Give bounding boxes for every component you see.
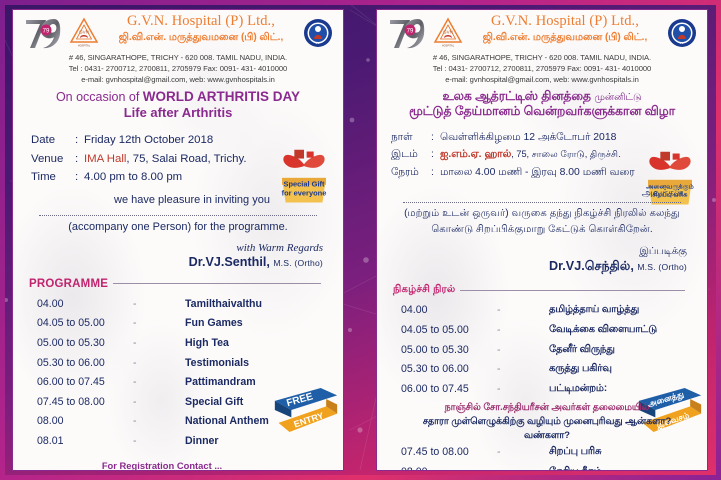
headline-block-ta: உலக ஆத்ரட்டிஸ் தினத்தை முன்னிட்டு மூட்டு…	[387, 89, 697, 119]
programme-list-ta: 04.00-தமிழ்த்தாய் வாழ்த்து04.05 to 05.00…	[387, 301, 697, 471]
headline-line2-ta: மூட்டுத் தேய்மானம் வென்றவர்களுக்கான விழா	[387, 104, 697, 119]
programme-title-en: PROGRAMME	[29, 278, 108, 290]
programme-time: 05.00 to 05.30	[401, 341, 497, 361]
programme-header-ta: நிகழ்ச்சி நிரல்	[387, 284, 697, 296]
regards-degree-ta: M.S. (Ortho)	[637, 262, 687, 272]
english-invitation-card: 79 GVN HOSPITAL G.V.N. Hospital (P) Ltd.…	[12, 9, 344, 471]
detail-label-venue-ta: இடம்	[391, 146, 431, 163]
programme-row: 04.05 to 05.00-Fun Games	[37, 314, 333, 334]
hospital-name-en: G.V.N. Hospital (P) Ltd.,	[469, 14, 661, 30]
programme-time: 05.30 to 06.00	[401, 360, 497, 380]
detail-label-date: Date	[31, 131, 75, 149]
programme-row: 04.00-தமிழ்த்தாய் வாழ்த்து	[401, 301, 697, 321]
regards-label-ta: இப்படிக்கு	[387, 246, 687, 258]
programme-item: Testimonials	[185, 354, 249, 374]
detail-row-time: Time : 4.00 pm to 8.00 pm	[31, 168, 333, 186]
address-line-2: Tel : 0431- 2700712, 2700811, 2705979 Fa…	[387, 64, 697, 75]
hospital-name-ta: ஜி.வி.என். மருத்துவமனை (பி) லிட்.,	[105, 31, 297, 44]
programme-item: தேசிய கீதம்	[549, 463, 602, 471]
detail-row-date: Date : Friday 12th October 2018	[31, 131, 333, 149]
pleasure-line-en: we have pleasure in inviting you	[23, 194, 333, 206]
address-line-2: Tel : 0431- 2700712, 2700811, 2705979 Fa…	[23, 64, 333, 75]
detail-colon-venue-ta: :	[431, 146, 440, 163]
signature-dotted-rule	[39, 215, 317, 216]
programme-time: 07.45 to 08.00	[401, 443, 497, 463]
detail-row-time-ta: நேரம் : மாலை 4.00 மணி - இரவு 8.00 மணி வர…	[391, 164, 697, 181]
logo-79-icon: 79	[23, 15, 65, 51]
programme-dash: -	[497, 360, 549, 380]
accompany-line-en: (accompany one Person) for the programme…	[23, 221, 333, 233]
letterhead: 79 GVN HOSPITAL G.V.N. Hospital (P) Ltd.…	[23, 14, 333, 80]
detail-label-venue: Venue	[31, 150, 75, 168]
registration-block-en: For Registration Contact ... 99435 51809	[23, 460, 333, 471]
programme-row: 05.00 to 05.30-தேனீர் விருந்து	[401, 341, 697, 361]
logo-79-icon: 79	[387, 15, 429, 51]
headline-prefix-en: On occasion of	[56, 90, 143, 104]
programme-time: 06.00 to 07.45	[37, 373, 133, 393]
programme-dash: -	[497, 463, 549, 471]
accompany-line-2-ta: கொண்டு சிறப்பிக்குமாறு கேட்டுக் கொள்கிறே…	[387, 222, 697, 238]
detail-value-date: Friday 12th October 2018	[84, 131, 213, 149]
programme-time: 05.00 to 05.30	[37, 334, 133, 354]
programme-dash: -	[133, 314, 185, 334]
detail-value-venue-rest-ta: , 75, சாலை ரோடு, திருச்சி.	[511, 149, 620, 159]
address-line-1: # 46, SINGARATHOPE, TRICHY - 620 008. TA…	[387, 53, 697, 64]
programme-time: 08.01	[37, 432, 133, 452]
detail-colon-date-ta: :	[431, 129, 440, 146]
detail-value-date-ta: வெள்ளிக்கிழமை 12 அக்டோபர் 2018	[440, 129, 616, 146]
programme-list-en: 04.00-Tamilthaivalthu04.05 to 05.00-Fun …	[23, 295, 333, 452]
programme-item: பட்டிமன்றம்:	[549, 380, 607, 400]
programme-row: 04.00-Tamilthaivalthu	[37, 295, 333, 315]
programme-dash: -	[497, 321, 549, 341]
logo-gvn-icon: GVN HOSPITAL	[69, 17, 99, 49]
programme-dash: -	[133, 373, 185, 393]
detail-colon-date: :	[75, 131, 84, 149]
programme-dash: -	[133, 393, 185, 413]
detail-row-venue: Venue : IMA Hall, 75, Salai Road, Trichy…	[31, 150, 333, 168]
letterhead-ta: 79 GVN HOSPITAL G.V.N. Hospital (P) Ltd.…	[387, 14, 697, 80]
programme-row: 05.30 to 06.00-Testimonials	[37, 354, 333, 374]
programme-dash: -	[497, 380, 549, 400]
detail-row-date-ta: நாள் : வெள்ளிக்கிழமை 12 அக்டோபர் 2018	[391, 129, 697, 146]
address-line-1: # 46, SINGARATHOPE, TRICHY - 620 008. TA…	[23, 53, 333, 64]
programme-row: 07.45 to 08.00-சிறப்பு பரிசு	[401, 443, 697, 463]
programme-item: Dinner	[185, 432, 219, 452]
programme-dash: -	[497, 341, 549, 361]
detail-row-venue-ta: இடம் : ஐ.எம்.ஏ. ஹால், 75, சாலை ரோடு, திர…	[391, 146, 697, 163]
programme-rule-ta	[460, 290, 685, 291]
svg-text:GVN: GVN	[443, 30, 453, 35]
detail-colon-time-ta: :	[431, 164, 440, 181]
programme-row: 07.45 to 08.00-Special Gift	[37, 393, 333, 413]
hospital-name-en: G.V.N. Hospital (P) Ltd.,	[105, 14, 297, 30]
svg-text:IAP: IAP	[316, 41, 321, 45]
programme-item: கருத்து பகிர்வு	[549, 360, 612, 380]
detail-label-date-ta: நாள்	[391, 129, 431, 146]
svg-text:IAP: IAP	[680, 41, 685, 45]
programme-item: வேடிக்கை விளையாட்டு	[549, 321, 657, 341]
regards-name-ta: Dr.VJ.செந்தில்,	[549, 259, 637, 273]
programme-time: 08.00	[401, 463, 497, 471]
programme-dash: -	[133, 334, 185, 354]
event-details-ta: நாள் : வெள்ளிக்கிழமை 12 அக்டோபர் 2018 இட…	[387, 129, 697, 181]
programme-item: சிறப்பு பரிசு	[549, 443, 601, 463]
detail-value-venue-accent-ta: ஐ.எம்.ஏ. ஹால்	[440, 149, 511, 160]
programme-row: 05.30 to 06.00-கருத்து பகிர்வு	[401, 360, 697, 380]
regards-name-en: Dr.VJ.Senthil,	[189, 255, 274, 269]
tamil-invitation-card: 79 GVN HOSPITAL G.V.N. Hospital (P) Ltd.…	[376, 9, 708, 471]
detail-value-time-ta: மாலை 4.00 மணி - இரவு 8.00 மணி வரை	[440, 164, 635, 181]
headline-block-en: On occasion of WORLD ARTHRITIS DAY Life …	[23, 89, 333, 121]
programme-row: 04.05 to 05.00-வேடிக்கை விளையாட்டு	[401, 321, 697, 341]
signature-dotted-rule-ta	[403, 202, 681, 203]
accompany-block-ta: (மற்றும் உடன் ஒருவர்) வருகை தந்து நிகழ்ச…	[387, 206, 697, 238]
programme-dash: -	[133, 354, 185, 374]
programme-time: 04.00	[401, 301, 497, 321]
registration-label-en: For Registration Contact ...	[23, 460, 301, 471]
programme-item: Tamilthaivalthu	[185, 295, 262, 315]
programme-time: 08.00	[37, 412, 133, 432]
svg-text:HOSPITAL: HOSPITAL	[78, 45, 91, 48]
headline-main-en: WORLD ARTHRITIS DAY	[143, 89, 300, 104]
logo-iap-icon: IAP	[667, 18, 697, 48]
headline-line1-ta: உலக ஆத்ரட்டிஸ் தினத்தை	[442, 89, 594, 103]
address-line-3: e-mail: gvnhospital@gmail.com, web: www.…	[387, 75, 697, 86]
pattimandram-note-line-1: நாஞ்சில் சோ.சந்தியரீசன் அவர்கள் தலைமையில…	[401, 400, 693, 414]
programme-row: 08.00-National Anthem	[37, 412, 333, 432]
programme-item: தமிழ்த்தாய் வாழ்த்து	[549, 301, 639, 321]
hospital-name-ta: ஜி.வி.என். மருத்துவமனை (பி) லிட்.,	[469, 31, 661, 44]
address-line-3: e-mail: gvnhospital@gmail.com, web: www.…	[23, 75, 333, 86]
programme-time: 04.05 to 05.00	[401, 321, 497, 341]
logo-gvn-icon: GVN HOSPITAL	[433, 17, 463, 49]
programme-item: Fun Games	[185, 314, 243, 334]
programme-time: 06.00 to 07.45	[401, 380, 497, 400]
headline-sub-en: Life after Arthritis	[23, 105, 333, 121]
programme-item: Pattimandram	[185, 373, 256, 393]
programme-item: தேனீர் விருந்து	[549, 341, 615, 361]
detail-colon-venue: :	[75, 150, 84, 168]
logo-iap-icon: IAP	[303, 18, 333, 48]
detail-label-time-ta: நேரம்	[391, 164, 431, 181]
avargal-line-ta: அவர்கள்	[387, 188, 697, 200]
programme-item: Special Gift	[185, 393, 243, 413]
programme-row: 06.00 to 07.45-பட்டிமன்றம்:	[401, 380, 697, 400]
svg-text:GVN: GVN	[79, 30, 89, 35]
svg-text:HOSPITAL: HOSPITAL	[442, 45, 455, 48]
programme-time: 04.05 to 05.00	[37, 314, 133, 334]
programme-dash: -	[133, 412, 185, 432]
programme-rule	[113, 283, 321, 284]
regards-warm-en: with Warm Regards	[23, 242, 323, 254]
detail-value-time: 4.00 pm to 8.00 pm	[84, 168, 182, 186]
detail-value-venue-accent: IMA Hall	[84, 153, 126, 165]
programme-row: 06.00 to 07.45-Pattimandram	[37, 373, 333, 393]
programme-dash: -	[133, 295, 185, 315]
detail-value-venue-rest: , 75, Salai Road, Trichy.	[126, 153, 246, 165]
regards-block-ta: இப்படிக்கு Dr.VJ.செந்தில், M.S. (Ortho)	[387, 246, 697, 275]
pattimandram-note: நாஞ்சில் சோ.சந்தியரீசன் அவர்கள் தலைமையில…	[401, 399, 697, 443]
programme-row: 08.01-Dinner	[37, 432, 333, 452]
programme-time: 07.45 to 08.00	[37, 393, 133, 413]
programme-row: 08.00-தேசிய கீதம்	[401, 463, 697, 471]
headline-line1-small-ta: முன்னிட்டு	[594, 92, 641, 103]
regards-block-en: with Warm Regards Dr.VJ.Senthil, M.S. (O…	[23, 242, 333, 269]
programme-dash: -	[133, 432, 185, 452]
detail-colon-time: :	[75, 168, 84, 186]
regards-degree-en: M.S. (Ortho)	[273, 258, 323, 268]
programme-item: National Anthem	[185, 412, 269, 432]
programme-dash: -	[497, 301, 549, 321]
accompany-line-1-ta: (மற்றும் உடன் ஒருவர்) வருகை தந்து நிகழ்ச…	[387, 206, 697, 222]
svg-text:79: 79	[43, 29, 50, 35]
pattimandram-note-line-2: சதாரா முள்ளெழுக்கிற்கு வழியும் முனைபுரிவ…	[401, 414, 693, 441]
programme-title-ta: நிகழ்ச்சி நிரல்	[393, 284, 455, 296]
programme-row: 05.00 to 05.30-High Tea	[37, 334, 333, 354]
detail-label-time: Time	[31, 168, 75, 186]
programme-item: High Tea	[185, 334, 229, 354]
programme-header-en: PROGRAMME	[23, 278, 333, 290]
programme-time: 05.30 to 06.00	[37, 354, 133, 374]
event-details-en: Date : Friday 12th October 2018 Venue : …	[23, 131, 333, 186]
programme-time: 04.00	[37, 295, 133, 315]
programme-dash: -	[497, 443, 549, 463]
svg-text:79: 79	[407, 29, 414, 35]
